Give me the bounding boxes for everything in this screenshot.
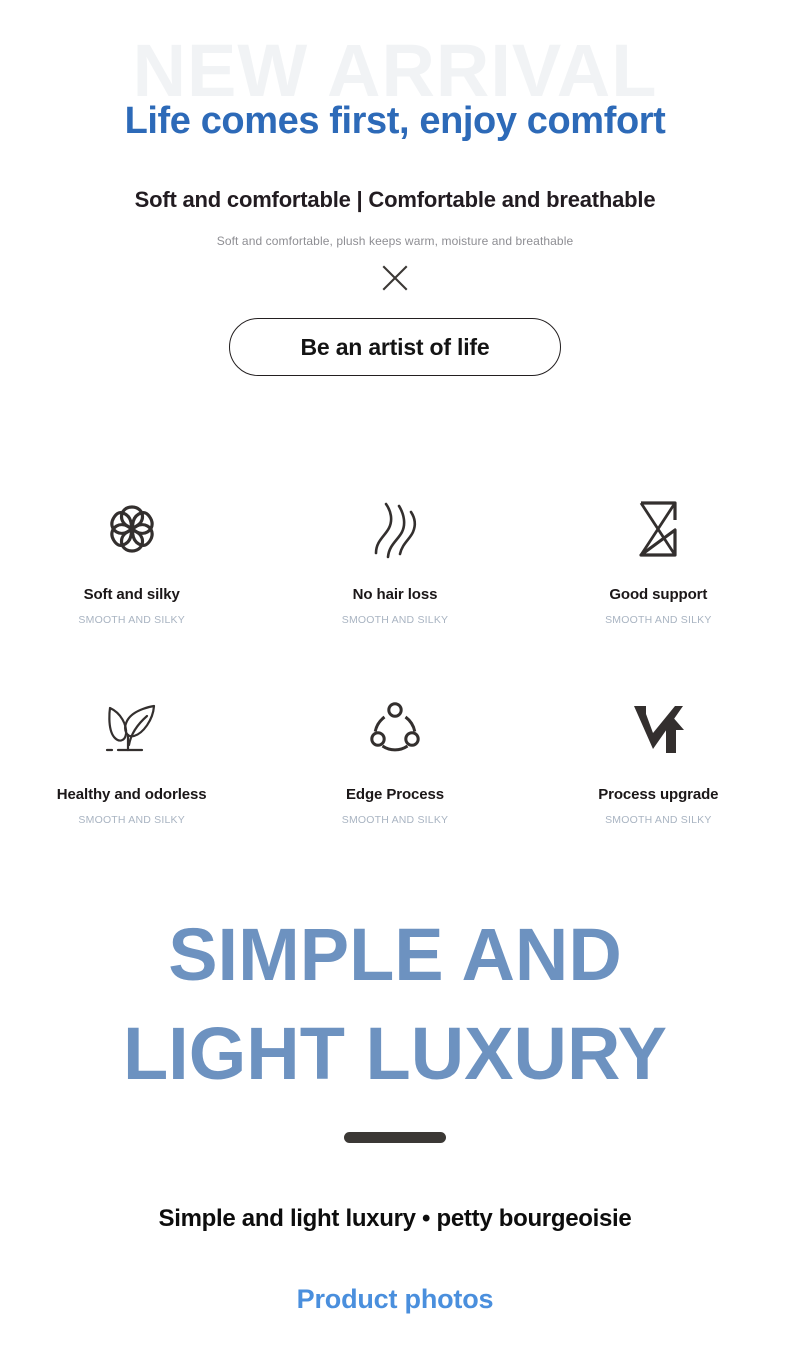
feature-item-soft-and-silky[interactable]: Soft and silky SMOOTH AND SILKY [0,470,263,670]
sprout-leaves-icon [97,698,167,760]
dash-divider-icon [344,1132,446,1143]
wavy-hair-strands-icon [364,495,426,563]
hero-title: Life comes first, enjoy comfort [0,100,790,144]
feature-subtitle: SMOOTH AND SILKY [605,814,711,826]
features-section: Soft and silky SMOOTH AND SILKY No hair … [0,470,790,870]
feature-item-no-hair-loss[interactable]: No hair loss SMOOTH AND SILKY [263,470,526,670]
feature-row: Healthy and odorless SMOOTH AND SILKY [0,670,790,870]
feature-title: Process upgrade [598,786,718,803]
feature-item-process-upgrade[interactable]: Process upgrade SMOOTH AND SILKY [527,670,790,870]
banner-line-2: LIGHT LUXURY [0,1004,790,1103]
x-mark-icon [380,263,410,293]
banner-tagline: Simple and light luxury • petty bourgeoi… [0,1205,790,1233]
three-node-circle-icon [363,697,427,761]
feature-icon-wrap [363,684,427,774]
feature-item-edge-process[interactable]: Edge Process SMOOTH AND SILKY [263,670,526,870]
feature-subtitle: SMOOTH AND SILKY [342,614,448,626]
feature-row: Soft and silky SMOOTH AND SILKY No hair … [0,470,790,670]
banner-line-1: SIMPLE AND [0,905,790,1004]
feature-icon-wrap [101,484,163,574]
braced-rectangle-icon [629,494,687,564]
feature-subtitle: SMOOTH AND SILKY [78,814,184,826]
feature-title: No hair loss [353,586,438,603]
feature-subtitle: SMOOTH AND SILKY [605,614,711,626]
feature-title: Soft and silky [84,586,180,603]
product-marketing-page: NEW ARRIVAL Life comes first, enjoy comf… [0,0,790,1358]
feature-title: Healthy and odorless [57,786,207,803]
product-photos-section-label: Product photos [0,1284,790,1315]
dash-divider-container [0,1132,790,1143]
checkmark-up-arrow-icon [626,697,690,761]
hero-section: NEW ARRIVAL Life comes first, enjoy comf… [0,0,790,400]
feature-item-good-support[interactable]: Good support SMOOTH AND SILKY [527,470,790,670]
hero-divider [0,263,790,293]
hero-cta-container: Be an artist of life [0,318,790,376]
be-an-artist-button[interactable]: Be an artist of life [229,318,561,376]
feature-icon-wrap [364,484,426,574]
flower-petals-icon [101,498,163,560]
feature-title: Edge Process [346,786,444,803]
feature-icon-wrap [629,484,687,574]
feature-subtitle: SMOOTH AND SILKY [342,814,448,826]
banner-section: SIMPLE AND LIGHT LUXURY [0,905,790,1103]
feature-item-healthy-and-odorless[interactable]: Healthy and odorless SMOOTH AND SILKY [0,670,263,870]
feature-title: Good support [609,586,707,603]
hero-watermark-text: NEW ARRIVAL [0,34,790,108]
feature-subtitle: SMOOTH AND SILKY [78,614,184,626]
hero-subtitle: Soft and comfortable | Comfortable and b… [0,187,790,213]
hero-description: Soft and comfortable, plush keeps warm, … [0,234,790,248]
feature-icon-wrap [626,684,690,774]
feature-icon-wrap [97,684,167,774]
